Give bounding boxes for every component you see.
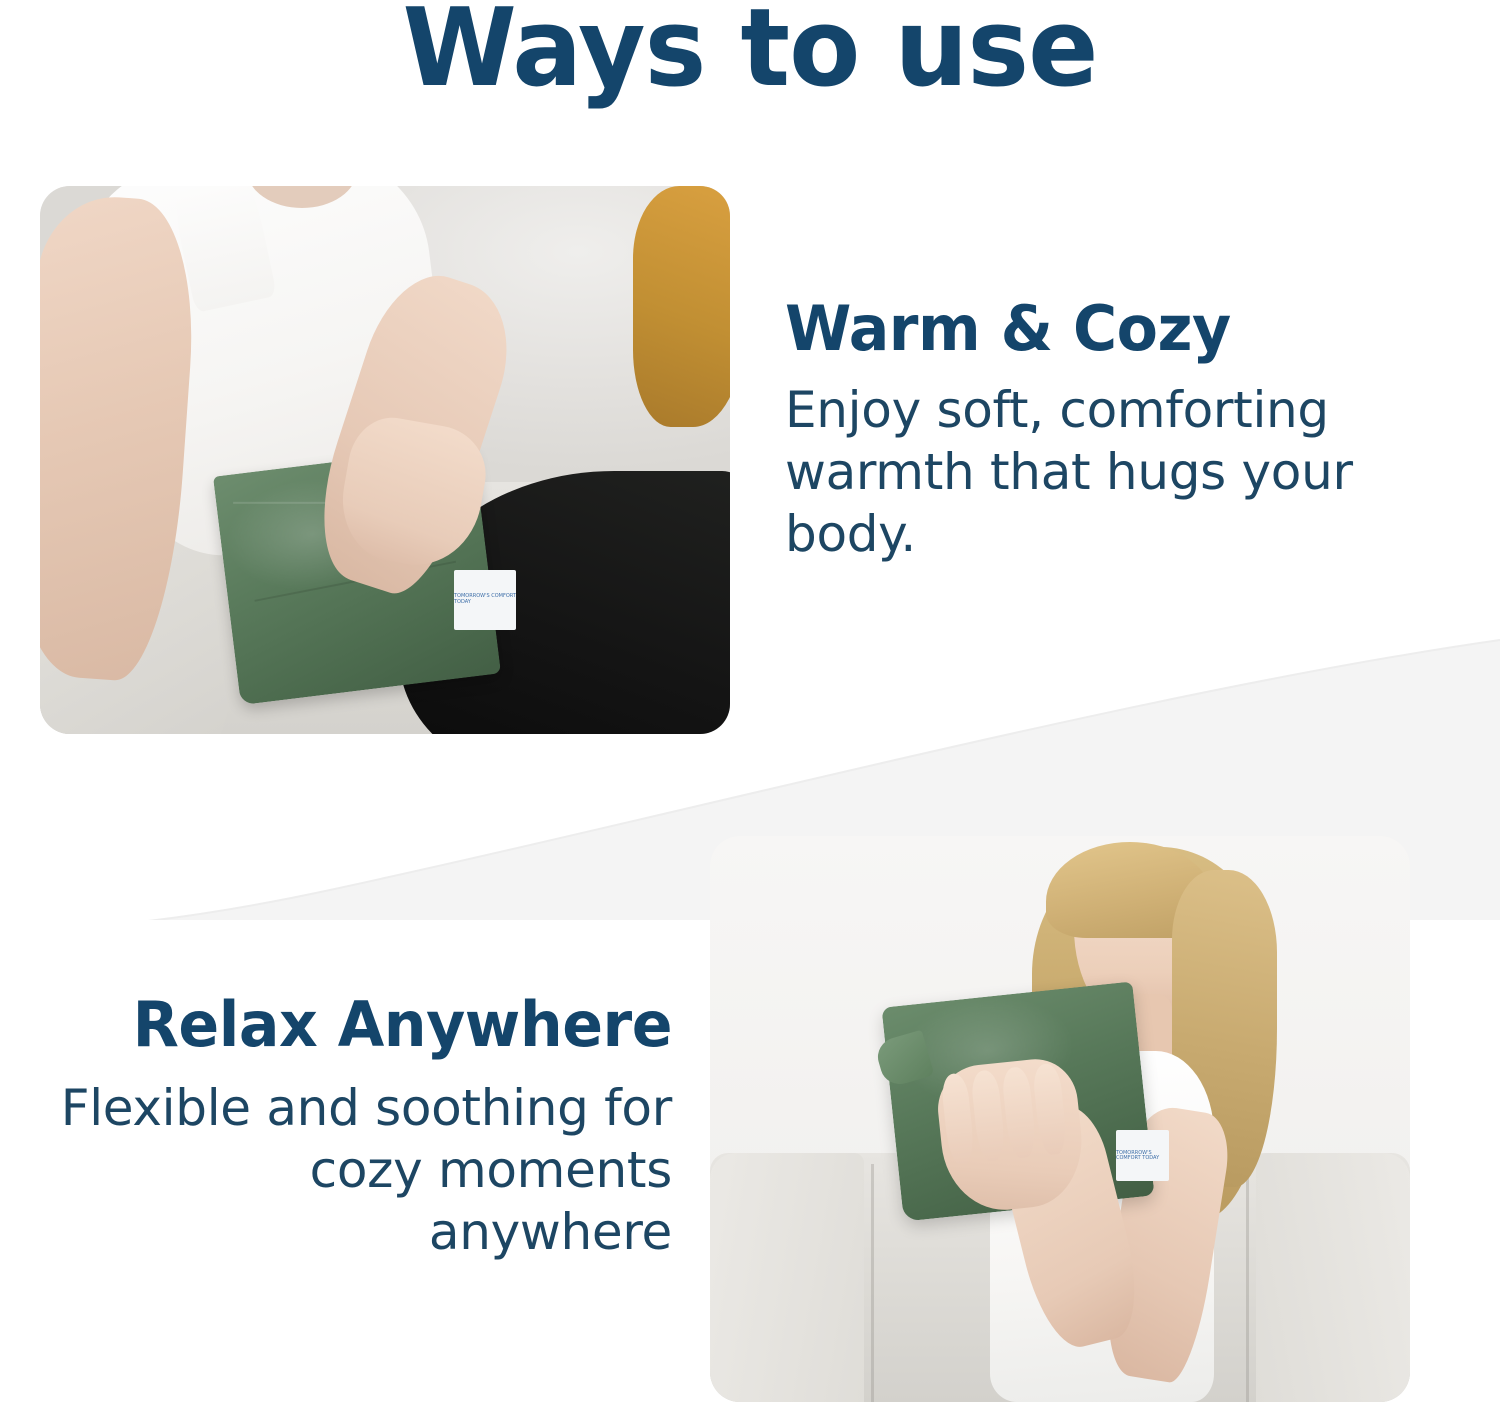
- text-block-warm-cozy: Warm & Cozy Enjoy soft, comforting warmt…: [785, 296, 1385, 565]
- sofa-seam: [1246, 1164, 1249, 1402]
- sofa-seam: [871, 1164, 874, 1402]
- finger: [970, 1069, 1006, 1163]
- mustard-pillow: [633, 186, 730, 427]
- photo-warm-cozy: TOMORROW'S COMFORT TODAY: [40, 186, 730, 734]
- photo-relax-anywhere: TOMORROW'S COMFORT TODAY: [710, 836, 1410, 1402]
- finger: [1001, 1066, 1037, 1160]
- page-title: Ways to use: [30, 0, 1470, 114]
- finger: [1032, 1063, 1068, 1157]
- product-brand-tag: TOMORROW'S COMFORT TODAY: [1116, 1130, 1169, 1181]
- infographic-canvas: Ways to use TOMORROW'S COMFORT TODAY: [0, 0, 1500, 1402]
- photo-warm-cozy-scene: TOMORROW'S COMFORT TODAY: [40, 186, 730, 734]
- sofa-cushion-right: [1256, 1153, 1410, 1402]
- finger: [940, 1073, 976, 1167]
- sofa-cushion-left: [710, 1153, 864, 1402]
- text-block-relax-anywhere: Relax Anywhere Flexible and soothing for…: [60, 992, 672, 1263]
- body-relax-anywhere: Flexible and soothing for cozy moments a…: [60, 1077, 672, 1263]
- product-brand-tag: TOMORROW'S COMFORT TODAY: [454, 570, 516, 630]
- photo-relax-anywhere-scene: TOMORROW'S COMFORT TODAY: [710, 836, 1410, 1402]
- heading-warm-cozy: Warm & Cozy: [785, 296, 1367, 361]
- heading-relax-anywhere: Relax Anywhere: [78, 992, 672, 1057]
- body-warm-cozy: Enjoy soft, comforting warmth that hugs …: [785, 379, 1385, 565]
